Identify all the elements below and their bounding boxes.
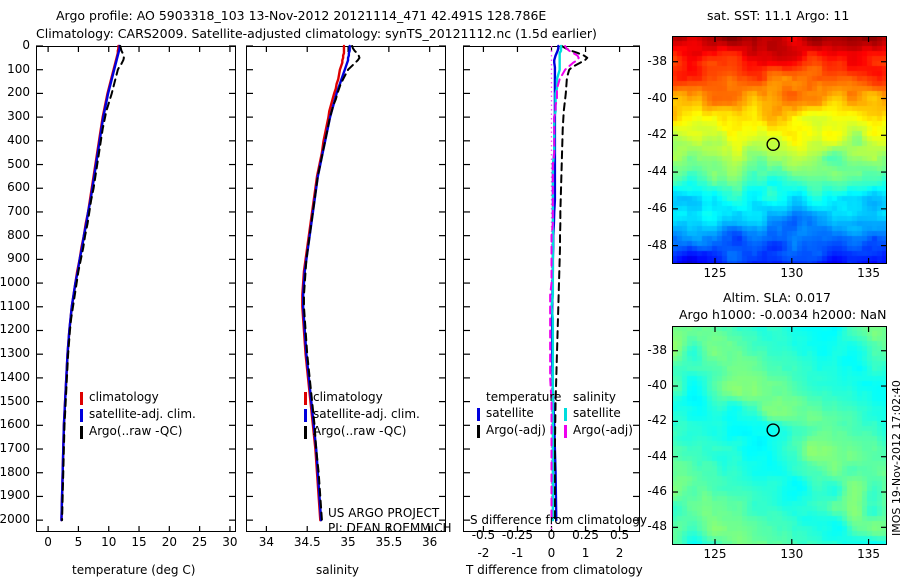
legend-swatch-climatology <box>80 392 83 405</box>
map-y-tick-label: -48 <box>647 238 667 252</box>
map-sla <box>672 326 887 545</box>
difference-plot-canvas <box>463 46 640 532</box>
difference-xticks-top: -0.5-0.2500.250.5 <box>463 528 640 543</box>
map-y-tick-label: -38 <box>647 343 667 357</box>
difference-legend-label-t-argo: Argo(-adj) <box>486 423 546 437</box>
legend-swatch-t-satellite <box>477 408 480 421</box>
x-tick-label: 0.25 <box>572 528 599 542</box>
legend-swatch-s-satellite <box>564 408 567 421</box>
depth-tick-label: 1800 <box>0 465 30 479</box>
depth-tick-label: 400 <box>7 133 30 147</box>
x-tick-label: 34 <box>259 535 274 549</box>
depth-tick-label: 900 <box>7 251 30 265</box>
depth-tick-label: 1400 <box>0 370 30 384</box>
depth-tick-label: 1700 <box>0 441 30 455</box>
map-y-tick-label: -40 <box>647 91 667 105</box>
map-y-tick-label: -46 <box>647 201 667 215</box>
legend-label-satellite-adj: satellite-adj. clim. <box>313 407 420 421</box>
x-tick-label: 36 <box>422 535 437 549</box>
x-tick-label: -0.25 <box>502 528 533 542</box>
x-tick-label: 34.5 <box>294 535 321 549</box>
map-x-tick-label: 125 <box>704 266 727 280</box>
map-x-tick-label: 125 <box>704 547 727 561</box>
difference-legend-heading-temperature: temperature <box>486 390 561 404</box>
map-y-tick-label: -40 <box>647 378 667 392</box>
depth-tick-label: 1200 <box>0 322 30 336</box>
depth-tick-label: 200 <box>7 85 30 99</box>
difference-legend-label-s-satellite: satellite <box>573 406 621 420</box>
temperature-xticks: 051015202530 <box>36 535 236 551</box>
salinity-plot-canvas <box>246 46 446 532</box>
depth-tick-label: 500 <box>7 157 30 171</box>
map-y-tick-label: -48 <box>647 519 667 533</box>
map-sst-title: sat. SST: 11.1 Argo: 11 <box>707 8 849 23</box>
difference-legend-label-t-satellite: satellite <box>486 406 534 420</box>
map-y-tick-label: -42 <box>647 413 667 427</box>
x-tick-label: -1 <box>511 546 523 560</box>
legend-label-argo: Argo(..raw -QC) <box>89 424 182 438</box>
x-tick-label: 10 <box>101 535 116 549</box>
x-tick-label: -2 <box>477 546 489 560</box>
x-tick-label: 0 <box>44 535 52 549</box>
depth-tick-label: 1300 <box>0 346 30 360</box>
salinity-xaxis-label: salinity <box>316 563 359 577</box>
panel-difference: temperature satellite Argo(-adj) salinit… <box>463 46 640 532</box>
legend-label-climatology: climatology <box>89 390 159 404</box>
difference-xaxis-label-top: S difference from climatology <box>470 513 647 527</box>
x-tick-label: 5 <box>75 535 83 549</box>
map-sla-yticks: -38-40-42-44-46-48 <box>636 326 670 545</box>
depth-tick-label: 1900 <box>0 488 30 502</box>
map-sla-marker-layer <box>672 326 887 545</box>
figure-title-line2: Climatology: CARS2009. Satellite-adjuste… <box>36 26 597 41</box>
legend-swatch-argo <box>80 426 83 439</box>
x-tick-label: 0 <box>548 546 556 560</box>
difference-xaxis-label-bottom: T difference from climatology <box>466 563 643 577</box>
legend-label-climatology: climatology <box>313 390 383 404</box>
map-sst-xticks: 125130135 <box>672 266 887 282</box>
difference-legend-heading-salinity: salinity <box>573 390 616 404</box>
legend-swatch-climatology <box>304 392 307 405</box>
x-tick-label: 15 <box>131 535 146 549</box>
x-tick-label: 1 <box>582 546 590 560</box>
map-y-tick-label: -42 <box>647 127 667 141</box>
legend-label-satellite-adj: satellite-adj. clim. <box>89 407 196 421</box>
map-sla-title-line2: Argo h1000: -0.0034 h2000: NaN <box>679 307 886 322</box>
x-tick-label: 0 <box>548 528 556 542</box>
depth-tick-label: 1000 <box>0 275 30 289</box>
x-tick-label: 30 <box>222 535 237 549</box>
map-x-tick-label: 135 <box>857 266 880 280</box>
depth-tick-label: 2000 <box>0 512 30 526</box>
x-tick-label: 35.5 <box>375 535 402 549</box>
map-sst-yticks: -38-40-42-44-46-48 <box>636 36 670 264</box>
x-tick-label: 25 <box>192 535 207 549</box>
legend-swatch-satellite-adj <box>304 409 307 422</box>
map-sst-marker-layer <box>672 36 887 264</box>
x-tick-label: 20 <box>162 535 177 549</box>
depth-axis-ticklabels: 0100200300400500600700800900100011001200… <box>0 46 34 532</box>
depth-tick-label: 700 <box>7 204 30 218</box>
panel-temperature: climatology satellite-adj. clim. Argo(..… <box>36 46 236 532</box>
map-sla-title-line1: Altim. SLA: 0.017 <box>723 290 831 305</box>
credit-line-1: US ARGO PROJECT <box>328 506 439 520</box>
legend-swatch-t-argo <box>477 425 480 438</box>
depth-tick-label: 1600 <box>0 417 30 431</box>
map-y-tick-label: -46 <box>647 484 667 498</box>
x-tick-label: 0.5 <box>610 528 629 542</box>
temperature-plot-canvas <box>36 46 236 532</box>
depth-tick-label: 100 <box>7 62 30 76</box>
legend-swatch-satellite-adj <box>80 409 83 422</box>
legend-swatch-argo <box>304 426 307 439</box>
map-y-tick-label: -44 <box>647 164 667 178</box>
salinity-xticks: 3434.53535.536 <box>246 535 446 551</box>
difference-legend-label-s-argo: Argo(-adj) <box>573 423 633 437</box>
x-tick-label: -0.5 <box>472 528 495 542</box>
difference-xticks-bottom: -2-1012 <box>463 546 640 561</box>
depth-tick-label: 300 <box>7 109 30 123</box>
map-x-tick-label: 135 <box>857 547 880 561</box>
x-tick-label: 35 <box>340 535 355 549</box>
panel-salinity: climatology satellite-adj. clim. Argo(..… <box>246 46 446 532</box>
figure-title-line1: Argo profile: AO 5903318_103 13-Nov-2012… <box>56 8 546 23</box>
map-x-tick-label: 130 <box>780 266 803 280</box>
map-y-tick-label: -44 <box>647 449 667 463</box>
depth-tick-label: 800 <box>7 228 30 242</box>
map-y-tick-label: -38 <box>647 54 667 68</box>
map-sla-xticks: 125130135 <box>672 547 887 563</box>
map-x-tick-label: 130 <box>780 547 803 561</box>
map-sst <box>672 36 887 264</box>
depth-tick-label: 600 <box>7 180 30 194</box>
depth-tick-label: 1500 <box>0 394 30 408</box>
credit-line-2: PI: DEAN ROEMMICH <box>328 521 451 535</box>
temperature-xaxis-label: temperature (deg C) <box>72 563 195 577</box>
legend-label-argo: Argo(..raw -QC) <box>313 424 406 438</box>
depth-tick-label: 1100 <box>0 299 30 313</box>
x-tick-label: 2 <box>616 546 624 560</box>
depth-tick-label: 0 <box>22 38 30 52</box>
legend-swatch-s-argo <box>564 425 567 438</box>
